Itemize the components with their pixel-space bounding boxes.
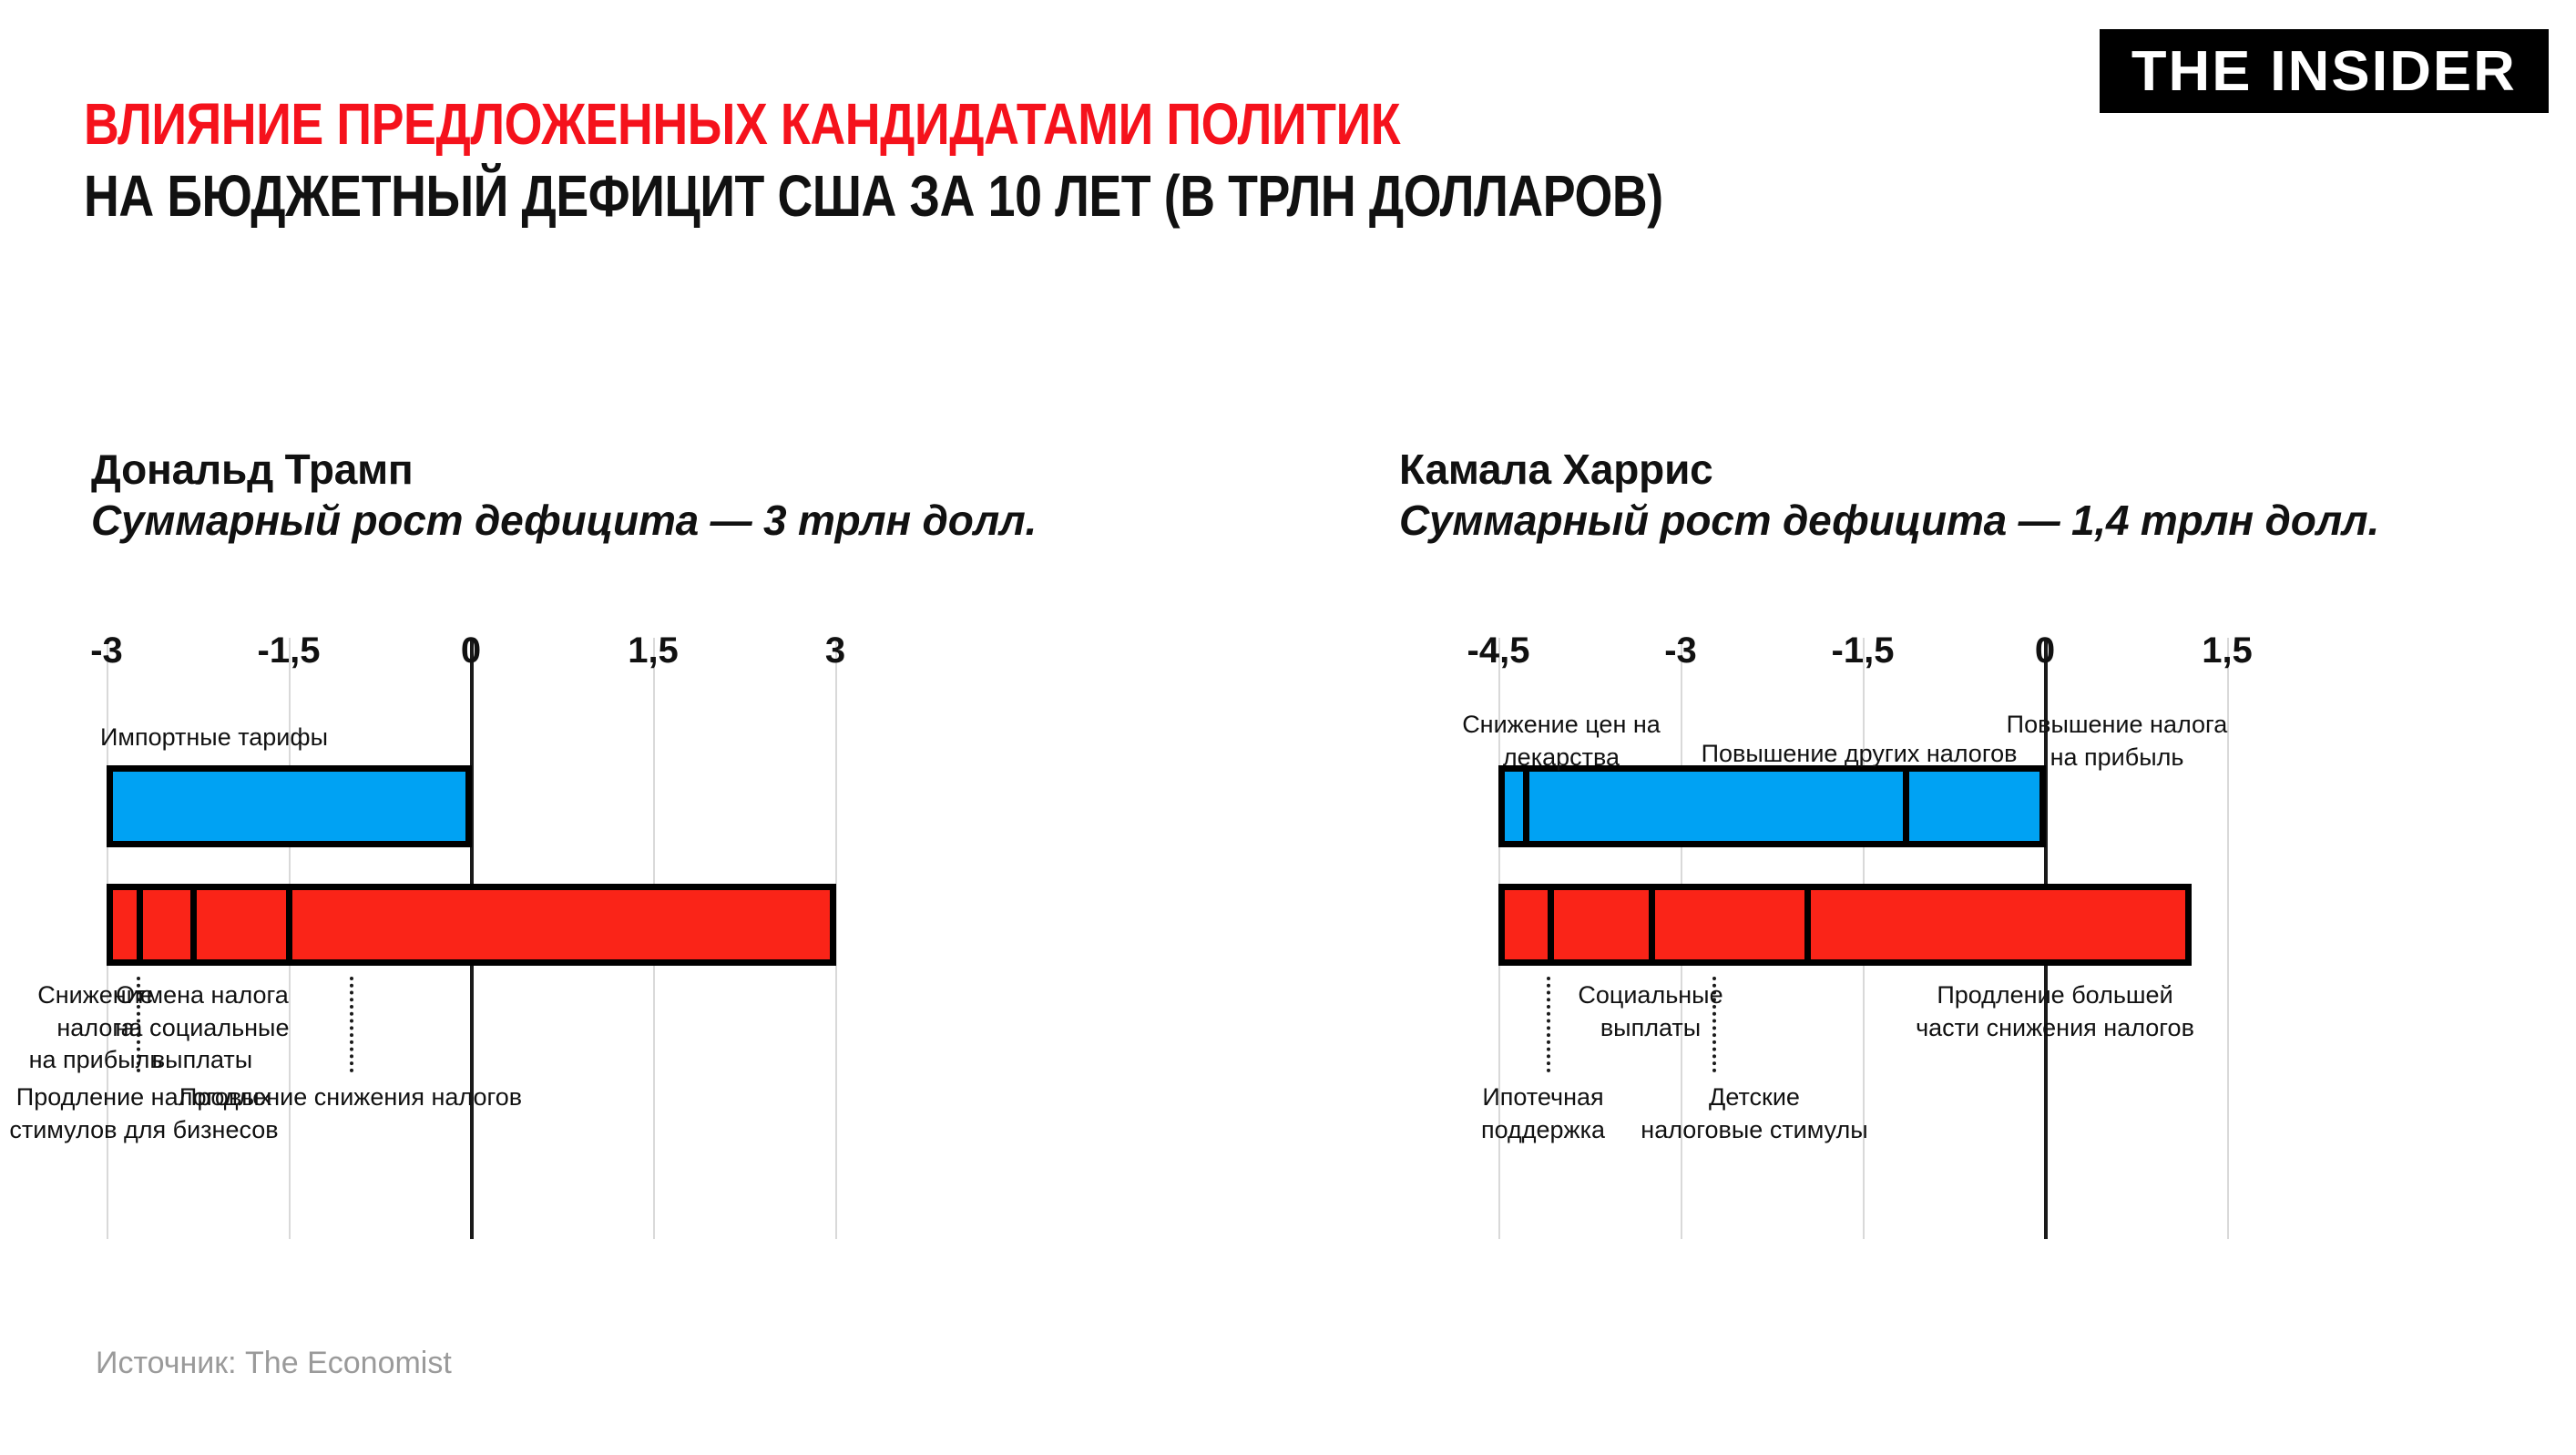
- label-extend-tax-cuts-harris: Продление большей части снижения налогов: [1882, 979, 2228, 1044]
- segment-corp-tax-raise: [1909, 772, 2040, 841]
- candidate-total-harris: Суммарный рост дефицита — 1,4 трлн долл.: [1399, 496, 2379, 545]
- tick-trump-2: 0: [461, 630, 481, 671]
- label-mortgage-support: Ипотечная поддержка: [1438, 1081, 1648, 1146]
- leader-extend-tax-cuts-trump: [350, 977, 353, 1072]
- panel-harris: Камала Харрис Суммарный рост дефицита — …: [1288, 0, 2576, 1455]
- segment-business-tax-incentives: [197, 890, 292, 959]
- label-corp-tax-raise: Повышение налога на прибыль: [1980, 709, 2254, 774]
- label-import-tariffs: Импортные тарифы: [68, 722, 360, 754]
- label-payroll-tax-repeal: Отмена налога на социальные выплаты: [97, 979, 307, 1077]
- tick-trump-3: 1,5: [628, 630, 679, 671]
- segment-payroll-tax-repeal: [143, 890, 197, 959]
- bar-red-trump: [107, 884, 836, 966]
- label-child-tax-credits: Детские налоговые стимулы: [1618, 1081, 1891, 1146]
- tick-trump-1: -1,5: [258, 630, 321, 671]
- segment-drug-price-cut: [1505, 772, 1529, 841]
- segment-social-payments: [1554, 890, 1655, 959]
- segment-extend-tax-cuts-trump: [292, 890, 830, 959]
- bar-blue-harris: [1498, 765, 2046, 847]
- tick-trump-4: 3: [825, 630, 845, 671]
- label-drug-price-cut: Снижение цен на лекарства: [1438, 709, 1684, 774]
- bar-blue-trump: [107, 765, 472, 847]
- tick-harris-2: -1,5: [1832, 630, 1895, 671]
- chart-trump: Импортные тарифы Снижение налога на приб…: [0, 638, 1288, 1239]
- segment-corp-tax-cut-trump: [113, 890, 143, 959]
- candidate-name-harris: Камала Харрис: [1399, 445, 1713, 494]
- segment-import-tariffs: [113, 772, 465, 841]
- label-social-payments: Социальные выплаты: [1546, 979, 1755, 1044]
- tick-harris-0: -4,5: [1467, 630, 1530, 671]
- tick-harris-4: 1,5: [2202, 630, 2253, 671]
- candidate-total-trump: Суммарный рост дефицита — 3 трлн долл.: [91, 496, 1037, 545]
- label-extend-tax-cuts-trump: Продление снижения налогов: [159, 1081, 542, 1114]
- panel-trump: Дональд Трамп Суммарный рост дефицита — …: [0, 0, 1288, 1455]
- tick-trump-0: -3: [90, 630, 123, 671]
- source-note: Источник: The Economist: [96, 1346, 452, 1381]
- segment-other-tax-raises: [1529, 772, 1909, 841]
- segment-mortgage-support: [1505, 890, 1554, 959]
- infographic-root: THE INSIDER ВЛИЯНИЕ ПРЕДЛОЖЕННЫХ КАНДИДА…: [0, 0, 2576, 1455]
- segment-extend-tax-cuts-harris: [1811, 890, 2185, 959]
- tick-harris-3: 0: [2035, 630, 2055, 671]
- chart-harris: Снижение цен на лекарства Повышение друг…: [1288, 638, 2576, 1239]
- segment-child-tax-credits: [1655, 890, 1811, 959]
- candidate-name-trump: Дональд Трамп: [91, 445, 414, 494]
- bar-red-harris: [1498, 884, 2192, 966]
- tick-harris-1: -3: [1664, 630, 1697, 671]
